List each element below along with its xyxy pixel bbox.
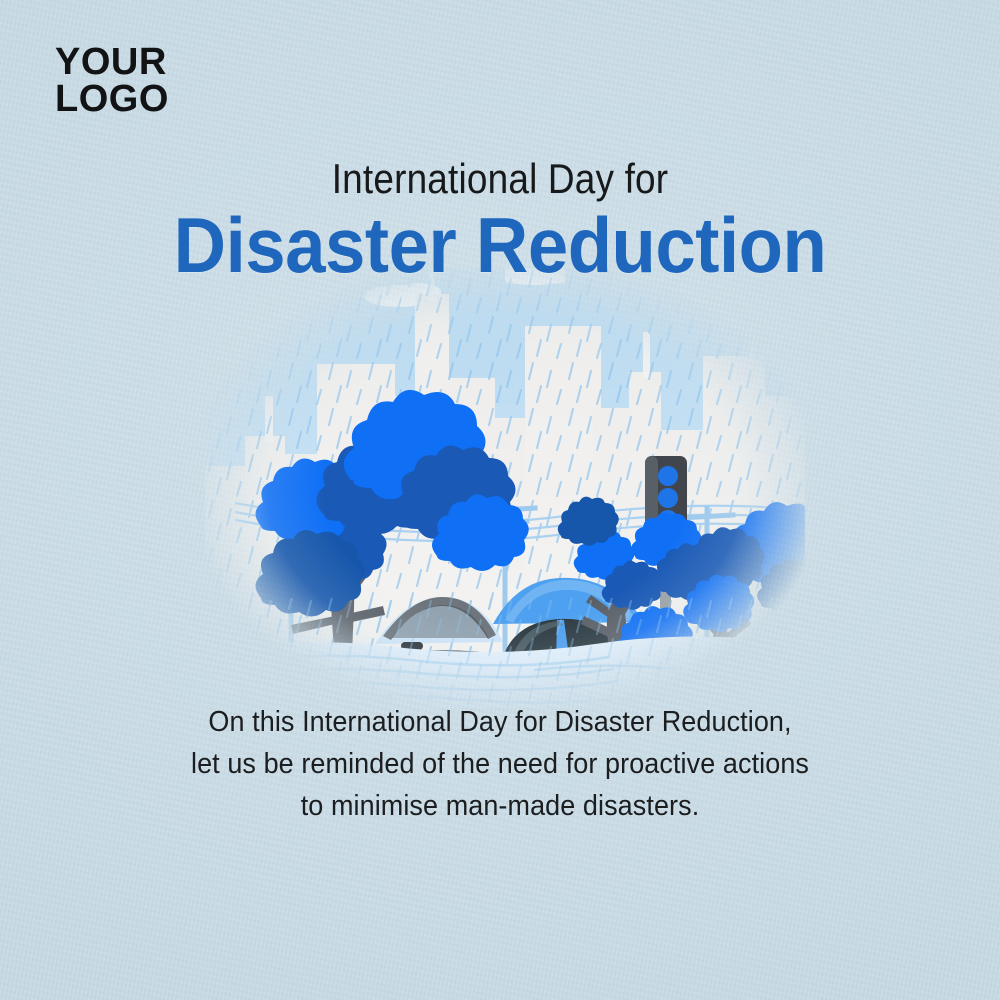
logo-placeholder: YOUR LOGO	[55, 44, 169, 118]
traffic-light-lamp-mid	[658, 488, 678, 508]
logo-line-1: YOUR	[55, 44, 169, 81]
flood-illustration	[205, 268, 805, 708]
page-title: Disaster Reduction	[35, 203, 965, 287]
poster-canvas: YOUR LOGO International Day for Disaster…	[0, 0, 1000, 1000]
title-block: International Day for Disaster Reduction	[0, 157, 1000, 287]
message-line-2: let us be reminded of the need for proac…	[156, 744, 844, 786]
page-subtitle: International Day for	[60, 157, 940, 201]
logo-line-2: LOGO	[55, 81, 169, 118]
message-line-1: On this International Day for Disaster R…	[156, 702, 844, 744]
traffic-light-lamp-top	[658, 466, 678, 486]
flood-illustration-svg	[205, 268, 805, 708]
message-line-3: to minimise man-made disasters.	[156, 786, 844, 828]
message-text: On this International Day for Disaster R…	[130, 702, 870, 827]
